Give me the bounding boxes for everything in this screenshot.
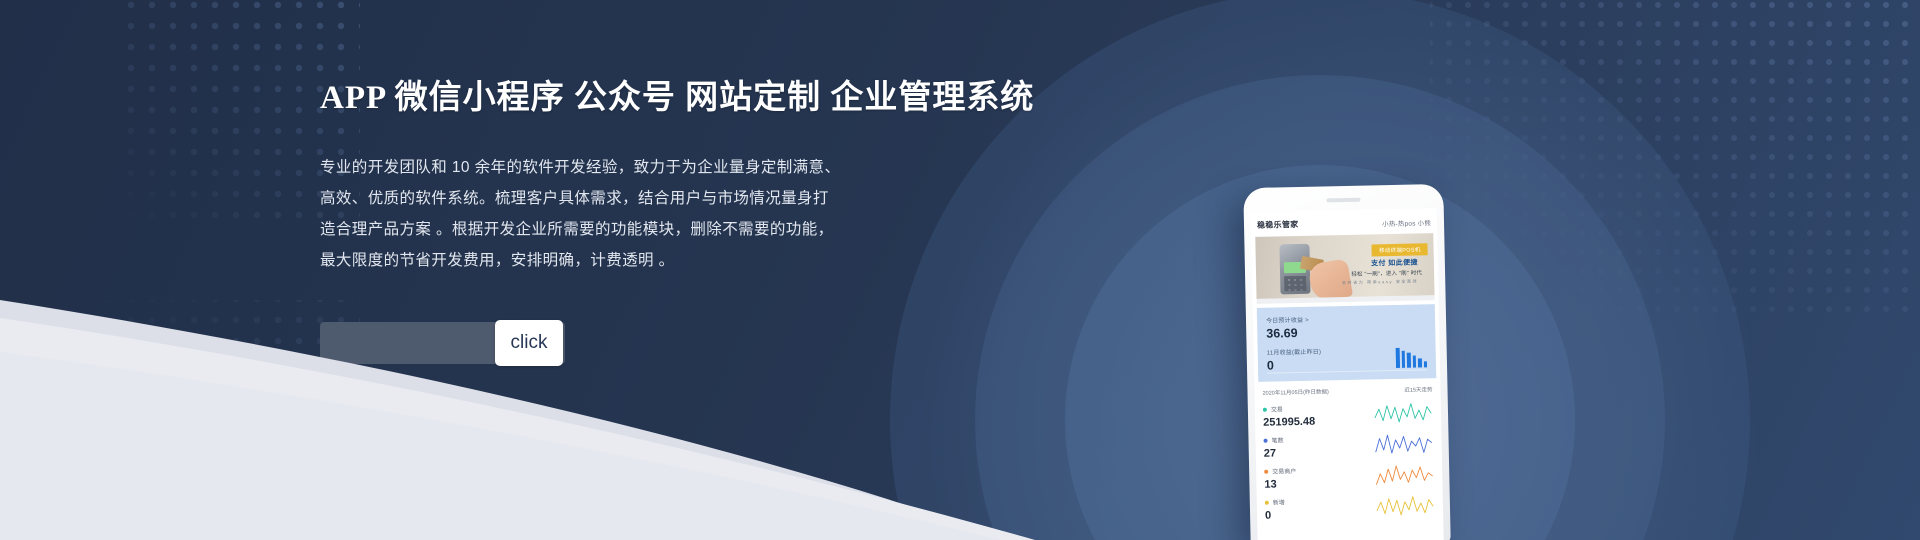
trend-sparkline: [1374, 463, 1434, 486]
trend-row-name: 笔数: [1263, 435, 1283, 444]
earnings-bar-chart: [1396, 343, 1427, 368]
earnings-bar: [1401, 351, 1405, 368]
phone-body: 稳稳乐管家 小热-热pos 小熊 移动终端POS机 支付 如此便捷 轻松 "一刷…: [1243, 184, 1450, 540]
trend-row-value: 251995.48: [1263, 416, 1315, 429]
trend-row-info: 新增0: [1265, 497, 1286, 521]
earnings-bar: [1407, 353, 1411, 368]
trend-row-name: 新增: [1265, 497, 1285, 506]
app-header: 稳稳乐管家 小热-热pos 小熊: [1251, 208, 1437, 237]
trend-row[interactable]: 新增0: [1257, 490, 1444, 525]
trend-color-dot-icon: [1265, 500, 1269, 504]
trend-note-label: 近15天走势: [1404, 385, 1432, 394]
pos-keypad-icon: [1284, 276, 1306, 291]
description-line-2: 高效、优质的软件系统。梳理客户具体需求，结合用户与市场情况量身打: [320, 183, 960, 214]
today-earnings-value: 36.69: [1266, 323, 1426, 340]
trend-row-name-text: 笔数: [1271, 435, 1283, 444]
trend-row-info: 笔数27: [1263, 435, 1284, 459]
hero-content: APP 微信小程序 公众号 网站定制 企业管理系统 专业的开发团队和 10 余年…: [320, 70, 960, 276]
trend-row-name: 交易商户: [1264, 466, 1296, 476]
phone-mockup: 稳稳乐管家 小热-热pos 小熊 移动终端POS机 支付 如此便捷 轻松 "一刷…: [1243, 184, 1450, 540]
trend-row[interactable]: 笔数27: [1255, 428, 1442, 463]
click-button[interactable]: click: [495, 320, 563, 366]
trend-row[interactable]: 交易251995.48: [1255, 397, 1442, 432]
banner-footnote: 省时省力 简单easy 安全高效: [1342, 278, 1418, 286]
trend-row-list: 交易251995.48笔数27交易商户13新增0: [1255, 397, 1444, 525]
trend-row-info: 交易251995.48: [1263, 404, 1315, 429]
app-user-label: 小热-热pos 小熊: [1382, 217, 1431, 228]
earnings-bar: [1412, 356, 1416, 368]
hero-banner: APP 微信小程序 公众号 网站定制 企业管理系统 专业的开发团队和 10 余年…: [0, 0, 1920, 540]
trend-row-name: 交易: [1263, 404, 1315, 414]
banner-title: 支付 如此便捷: [1371, 257, 1418, 268]
trend-row-value: 0: [1265, 509, 1285, 521]
trend-row-name-text: 交易: [1271, 404, 1283, 413]
description-line-3: 造合理产品方案 。根据开发企业所需要的功能模块，删除不需要的功能，: [320, 214, 960, 245]
trend-sparkline: [1373, 432, 1433, 455]
trend-row-name-text: 交易商户: [1272, 466, 1296, 476]
trend-row-value: 27: [1264, 447, 1284, 459]
banner-subtitle: 轻松 "一刷"，进入 "刷" 时代: [1351, 268, 1422, 277]
trend-color-dot-icon: [1263, 407, 1267, 411]
app-brand-label: 稳稳乐管家: [1257, 219, 1299, 231]
trend-date-label: 2020年11月05日(昨日数据): [1262, 387, 1328, 396]
trend-color-dot-icon: [1263, 438, 1267, 442]
trend-sparkline: [1373, 401, 1433, 424]
trend-row[interactable]: 交易商户13: [1256, 459, 1443, 494]
earnings-bar: [1396, 348, 1400, 368]
earnings-card[interactable]: 今日预计收益 > 36.69 11月收益(截止昨日) 0: [1257, 304, 1437, 382]
earnings-bar: [1423, 361, 1427, 367]
page-title: APP 微信小程序 公众号 网站定制 企业管理系统: [320, 70, 960, 118]
description-line-4: 最大限度的节省开发费用，安排明确，计费透明 。: [320, 245, 960, 276]
trend-row-value: 13: [1264, 478, 1296, 491]
trend-row-name-text: 新增: [1273, 497, 1285, 506]
trend-row-info: 交易商户13: [1264, 466, 1297, 491]
description-line-1: 专业的开发团队和 10 余年的软件开发经验，致力于为企业量身定制满意、: [320, 152, 960, 183]
phone-screen: 稳稳乐管家 小热-热pos 小熊 移动终端POS机 支付 如此便捷 轻松 "一刷…: [1251, 208, 1444, 540]
hero-description: 专业的开发团队和 10 余年的软件开发经验，致力于为企业量身定制满意、 高效、优…: [320, 152, 960, 276]
banner-tag: 移动终端POS机: [1372, 243, 1428, 256]
trend-sparkline: [1375, 494, 1435, 517]
app-promo-banner[interactable]: 移动终端POS机 支付 如此便捷 轻松 "一刷"，进入 "刷" 时代 省时省力 …: [1255, 233, 1434, 299]
earnings-bar: [1418, 358, 1422, 367]
trend-color-dot-icon: [1264, 469, 1268, 473]
phone-speaker: [1326, 198, 1360, 202]
